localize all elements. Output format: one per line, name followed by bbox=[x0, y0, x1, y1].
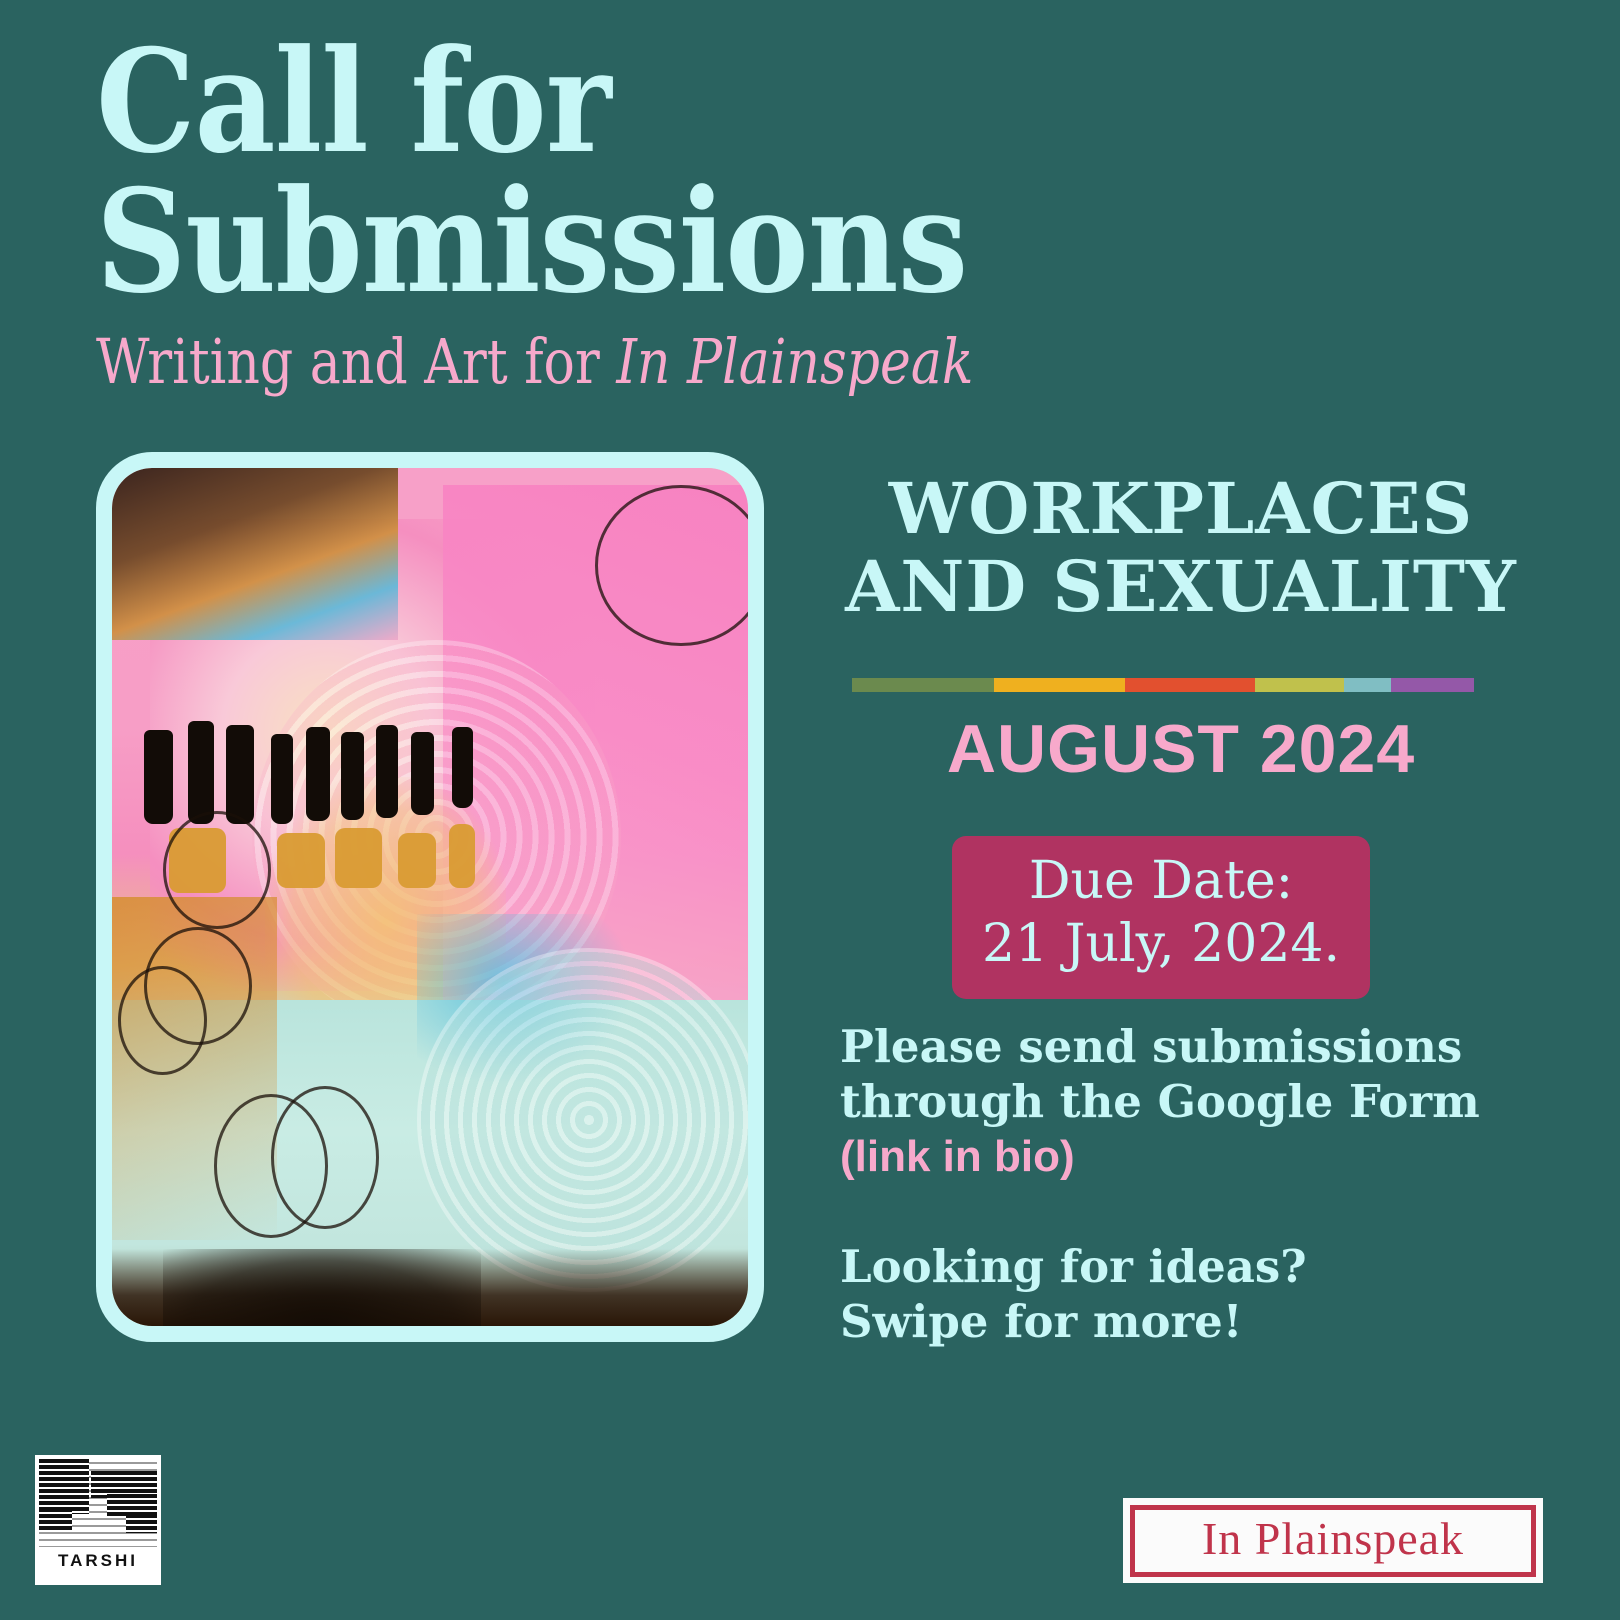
issue-month: AUGUST 2024 bbox=[836, 710, 1526, 788]
tarshi-mark-shape bbox=[39, 1508, 72, 1531]
tarshi-logo: TARSHI bbox=[35, 1455, 161, 1585]
in-plainspeak-wordmark: In Plainspeak bbox=[1202, 1516, 1464, 1566]
page-subtitle: Writing and Art for In Plainspeak bbox=[96, 329, 986, 394]
paint-dash bbox=[188, 721, 213, 824]
color-bar-segment-6 bbox=[1391, 678, 1474, 692]
page-title-line-2: Submissions bbox=[96, 174, 1029, 310]
paint-ring bbox=[163, 811, 271, 929]
artwork-image bbox=[112, 468, 748, 1326]
paint-ochre-block bbox=[335, 828, 383, 888]
tarshi-mark-shape bbox=[126, 1514, 157, 1533]
swipe-prompt: Looking for ideas? Swipe for more! bbox=[840, 1240, 1540, 1350]
paint-layer-top-left-dark bbox=[112, 468, 398, 640]
tarshi-wordmark: TARSHI bbox=[39, 1551, 157, 1571]
in-plainspeak-logo: In Plainspeak bbox=[1123, 1498, 1543, 1583]
paint-dash bbox=[376, 725, 398, 818]
paint-dash bbox=[452, 727, 472, 808]
paint-dash bbox=[271, 734, 293, 824]
paint-ring bbox=[271, 1086, 379, 1229]
due-date-label: Due Date: bbox=[952, 850, 1370, 913]
page-title-line-1: Call for bbox=[96, 34, 1029, 170]
color-bar-segment-4 bbox=[1255, 678, 1344, 692]
subtitle-prefix: Writing and Art for bbox=[96, 325, 616, 398]
instructions-line-1: Please send submissions bbox=[840, 1020, 1540, 1075]
paint-dash bbox=[306, 727, 330, 821]
color-divider-bar bbox=[852, 678, 1474, 692]
artwork-frame bbox=[96, 452, 764, 1342]
paint-dash bbox=[341, 732, 364, 820]
paint-ochre-block bbox=[398, 833, 436, 889]
due-date-badge: Due Date: 21 July, 2024. bbox=[952, 836, 1370, 999]
swipe-line-1: Looking for ideas? bbox=[840, 1240, 1540, 1295]
paint-dash bbox=[226, 725, 254, 824]
poster-canvas: Call for Submissions Writing and Art for… bbox=[0, 0, 1620, 1620]
color-bar-segment-3 bbox=[1125, 678, 1255, 692]
submission-instructions: Please send submissions through the Goog… bbox=[840, 1020, 1540, 1183]
instructions-line-2: through the Google Form bbox=[840, 1075, 1540, 1130]
paint-dash bbox=[411, 732, 434, 814]
paint-layer-mint-swirl bbox=[417, 948, 748, 1291]
color-bar-segment-2 bbox=[994, 678, 1124, 692]
headline-block: Call for Submissions Writing and Art for… bbox=[96, 34, 1156, 394]
paint-layer-bottom-black bbox=[163, 1249, 481, 1326]
tarshi-mark-shape bbox=[39, 1459, 89, 1514]
tarshi-mark-icon bbox=[39, 1459, 157, 1547]
swipe-line-2: Swipe for more! bbox=[840, 1295, 1540, 1350]
theme-title-line-1: WORKPLACES bbox=[836, 470, 1526, 548]
theme-title: WORKPLACES AND SEXUALITY bbox=[836, 470, 1526, 627]
subtitle-publication-name: In Plainspeak bbox=[616, 325, 973, 398]
paint-ochre-block bbox=[277, 833, 325, 889]
color-bar-segment-1 bbox=[852, 678, 994, 692]
color-bar-segment-5 bbox=[1344, 678, 1391, 692]
instructions-link-note: (link in bio) bbox=[840, 1130, 1540, 1184]
theme-title-line-2: AND SEXUALITY bbox=[836, 548, 1526, 626]
paint-dash bbox=[144, 730, 173, 824]
paint-ring bbox=[118, 966, 207, 1075]
in-plainspeak-logo-border: In Plainspeak bbox=[1130, 1505, 1536, 1577]
paint-ring bbox=[595, 485, 748, 645]
due-date-value: 21 July, 2024. bbox=[952, 913, 1370, 976]
paint-ochre-block bbox=[449, 824, 474, 888]
